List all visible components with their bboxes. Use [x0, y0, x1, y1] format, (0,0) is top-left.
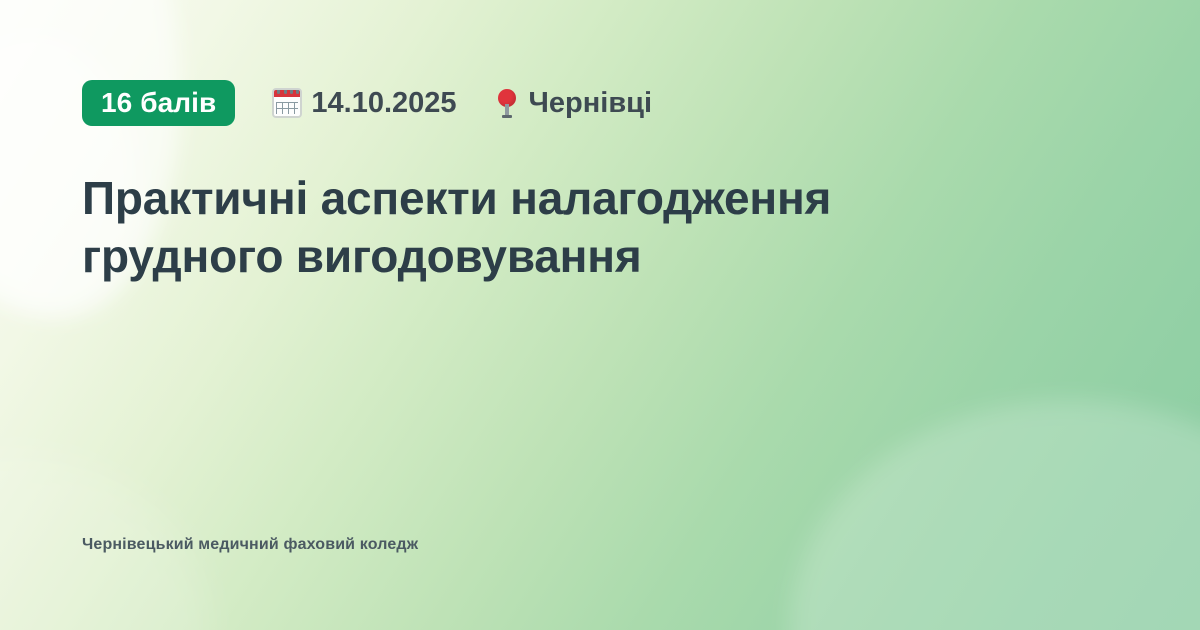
event-share-card: 16 балів 14.10.2025 Чернівці Практ [0, 0, 1200, 630]
calendar-rings [277, 88, 299, 94]
meta-row: 16 балів 14.10.2025 Чернівці [82, 80, 1118, 126]
event-location-value: Чернівці [529, 87, 653, 120]
event-location: Чернівці [494, 87, 653, 120]
event-date-value: 14.10.2025 [311, 87, 456, 120]
map-pin-icon [494, 88, 520, 118]
calendar-icon [272, 88, 302, 118]
card-content: 16 балів 14.10.2025 Чернівці Практ [0, 0, 1200, 630]
credits-badge: 16 балів [82, 80, 235, 126]
page-title: Практичні аспекти налагодження грудного … [82, 126, 1022, 285]
event-date: 14.10.2025 [272, 87, 456, 120]
